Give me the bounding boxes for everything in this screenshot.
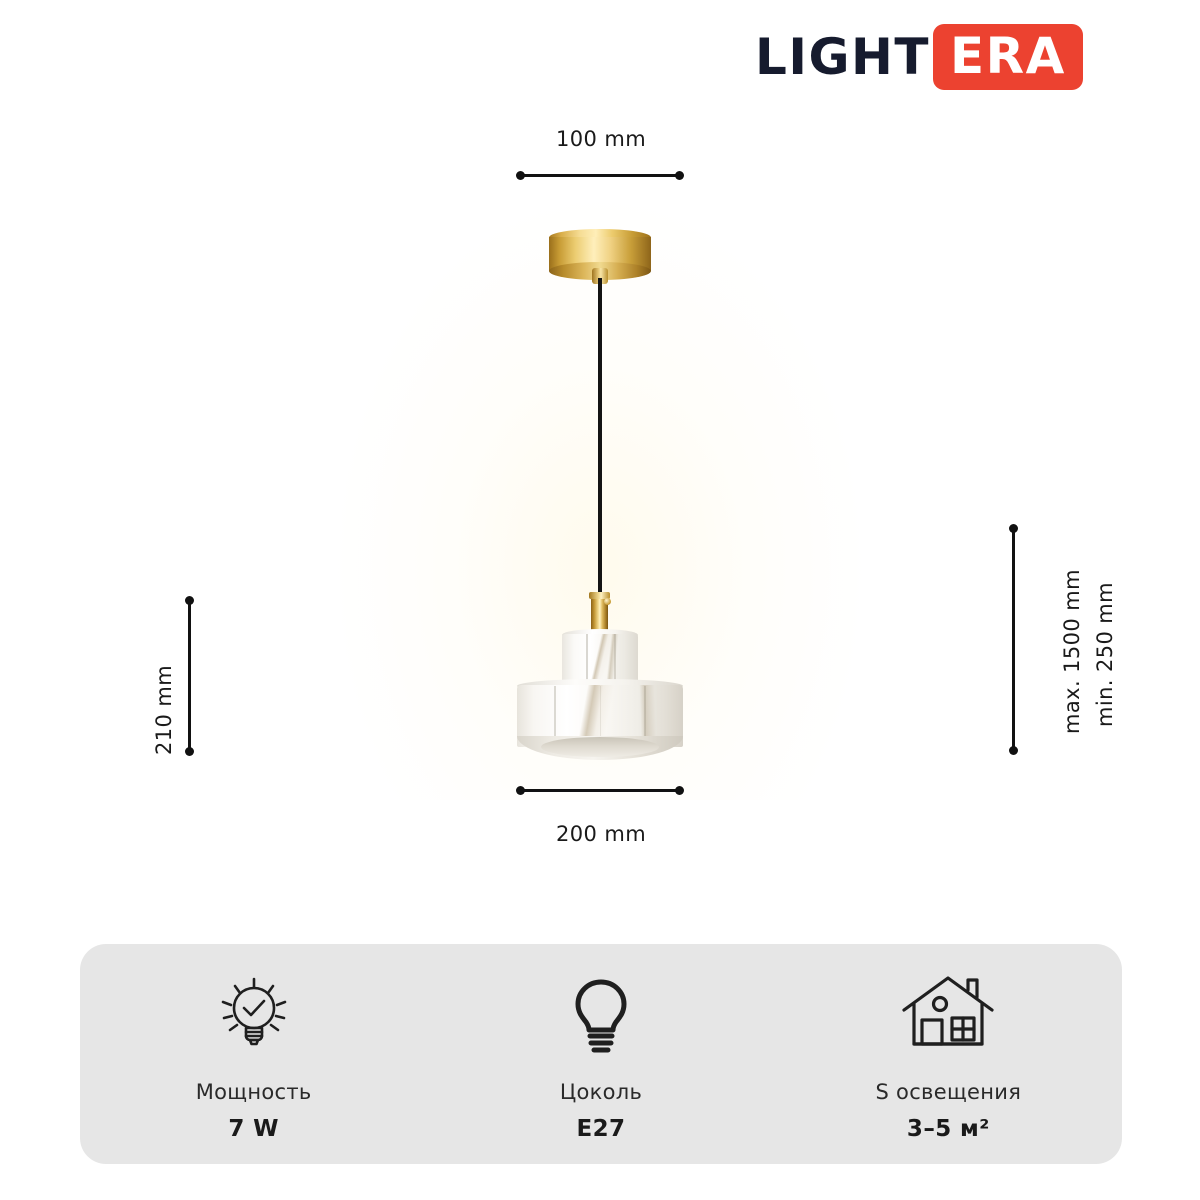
dimension-line-bottom-width — [520, 789, 680, 792]
dimension-line-top-width — [520, 174, 680, 177]
dimension-label-bottom-width: 200 mm — [556, 822, 646, 846]
specification-panel: Мощность 7 W Цоколь E27 — [80, 944, 1122, 1164]
spec-label-area: S освещения — [875, 1080, 1021, 1104]
spec-item-area: S освещения 3–5 м² — [775, 966, 1122, 1142]
dimension-endpoint-dot — [185, 747, 194, 756]
dimension-label-right-min: min. 250 mm — [1093, 582, 1117, 727]
spec-value-power: 7 W — [228, 1116, 279, 1142]
brass-stem-screw — [604, 598, 611, 605]
spec-item-socket: Цоколь E27 — [427, 966, 774, 1142]
dimension-endpoint-dot — [516, 171, 525, 180]
dimension-endpoint-dot — [1009, 524, 1018, 533]
dimension-label-top-width: 100 mm — [556, 127, 646, 151]
marble-facet-seam — [600, 686, 601, 742]
spec-value-socket: E27 — [577, 1116, 626, 1142]
spec-label-socket: Цоколь — [560, 1080, 642, 1104]
dimension-label-left-height: 210 mm — [152, 665, 176, 755]
dimension-endpoint-dot — [675, 171, 684, 180]
dimension-line-right-height — [1012, 528, 1015, 751]
dimension-line-left-height — [188, 600, 191, 752]
dimension-endpoint-dot — [185, 596, 194, 605]
product-spec-sheet: LIGHT ERA 100 mm 210 mm — [0, 0, 1200, 1200]
dimension-label-right-max: max. 1500 mm — [1060, 569, 1084, 734]
house-icon — [896, 966, 1000, 1062]
marble-shade-inner-cavity — [541, 737, 659, 757]
spec-value-area: 3–5 м² — [907, 1116, 990, 1142]
dimension-endpoint-dot — [1009, 746, 1018, 755]
dimension-endpoint-dot — [675, 786, 684, 795]
spec-item-power: Мощность 7 W — [80, 966, 427, 1142]
bulb-check-icon — [206, 966, 302, 1062]
dimension-endpoint-dot — [516, 786, 525, 795]
spec-label-power: Мощность — [196, 1080, 312, 1104]
bulb-socket-icon — [553, 966, 649, 1062]
suspension-cord — [598, 278, 602, 596]
